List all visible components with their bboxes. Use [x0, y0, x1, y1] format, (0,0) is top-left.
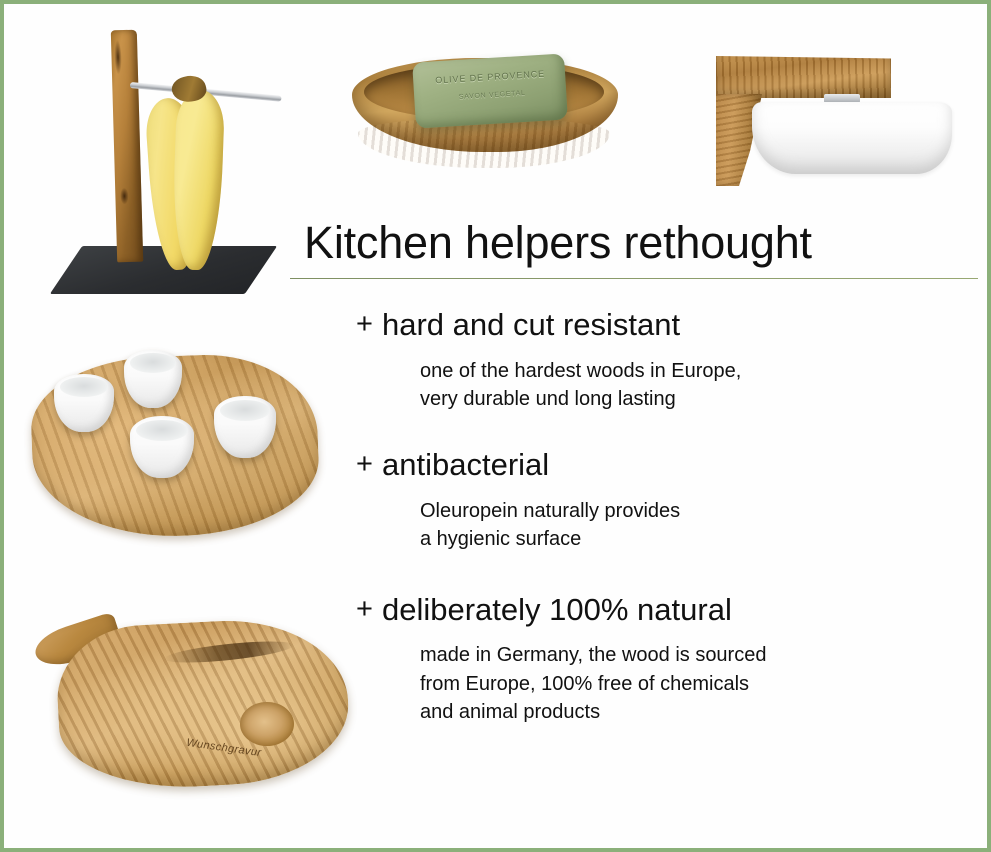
page-title: Kitchen helpers rethought — [290, 220, 980, 265]
banana — [171, 89, 225, 271]
feature-description: one of the hardest woods in Europe, very… — [382, 357, 980, 414]
feature-description-line: very durable und long lasting — [420, 385, 980, 413]
plus-icon: + — [356, 448, 373, 481]
feature-item-hard-and-cut-resistant: +hard and cut resistant one of the harde… — [290, 307, 980, 413]
feature-description-line: made in Germany, the wood is sourced — [420, 641, 980, 669]
product-image-paper-towel-holder — [716, 50, 956, 192]
product-image-appetizer-board — [32, 340, 322, 552]
feature-heading-label: hard and cut resistant — [382, 307, 680, 342]
content-column: Kitchen helpers rethought +hard and cut … — [290, 220, 980, 727]
wood-grain — [358, 118, 610, 168]
plus-icon: + — [356, 593, 373, 626]
feature-heading: +antibacterial — [382, 447, 980, 483]
feature-heading: +hard and cut resistant — [382, 307, 980, 343]
wooden-post — [111, 30, 143, 263]
product-image-soap-dish: OLIVE DE PROVENCE SAVON VEGETAL — [352, 32, 624, 162]
soap-bar: OLIVE DE PROVENCE SAVON VEGETAL — [412, 53, 568, 128]
feature-heading: +deliberately 100% natural — [382, 592, 980, 628]
feature-description: Oleuropein naturally provides a hygienic… — [382, 497, 980, 554]
feature-description-line: one of the hardest woods in Europe, — [420, 357, 980, 385]
feature-description: made in Germany, the wood is sourced fro… — [382, 641, 980, 726]
promo-banner: OLIVE DE PROVENCE SAVON VEGETAL Wunschgr… — [0, 0, 991, 852]
wood-knot — [240, 702, 294, 746]
feature-description-line: from Europe, 100% free of chemicals — [420, 670, 980, 698]
feature-heading-label: deliberately 100% natural — [382, 592, 732, 627]
feature-description-line: Oleuropein naturally provides — [420, 497, 980, 525]
product-image-banana-holder — [54, 24, 289, 309]
feature-description-line: and animal products — [420, 698, 980, 726]
soap-brand-text: OLIVE DE PROVENCE — [427, 68, 553, 86]
feature-item-antibacterial: +antibacterial Oleuropein naturally prov… — [290, 447, 980, 553]
feature-item-deliberately-natural: +deliberately 100% natural made in Germa… — [290, 592, 980, 727]
plus-icon: + — [356, 308, 373, 341]
wooden-bracket-arm — [716, 56, 891, 98]
feature-heading-label: antibacterial — [382, 447, 549, 482]
soap-subtitle-text: SAVON VEGETAL — [442, 89, 542, 102]
paper-towel-roll — [752, 102, 952, 174]
feature-description-line: a hygienic surface — [420, 525, 980, 553]
title-divider — [290, 278, 978, 279]
